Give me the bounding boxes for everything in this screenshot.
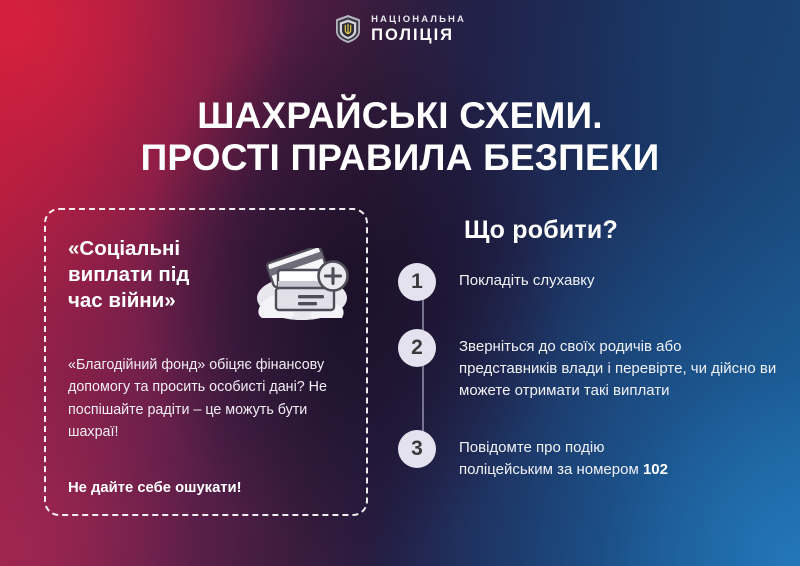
- step-text: Покладіть слухавку: [459, 263, 595, 292]
- actions-section: Що робити? 1 Покладіть слухавку 2 Зверні…: [398, 216, 778, 480]
- page-title-line-2: ПРОСТІ ПРАВИЛА БЕЗПЕКИ: [0, 137, 800, 179]
- brand-logo: НАЦІОНАЛЬНА ПОЛІЦІЯ: [0, 14, 800, 44]
- scheme-card-header: «Соціальні виплати під час війни»: [46, 210, 366, 322]
- emergency-number: 102: [643, 461, 668, 478]
- scheme-card-title: «Соціальні виплати під час війни»: [68, 236, 250, 313]
- infographic-poster: НАЦІОНАЛЬНА ПОЛІЦІЯ ШАХРАЙСЬКІ СХЕМИ. ПР…: [0, 0, 800, 566]
- list-item: 1 Покладіть слухавку: [398, 263, 778, 301]
- step-number-badge: 1: [398, 263, 436, 301]
- step-text: Зверніться до своїх родичів або представ…: [459, 329, 778, 402]
- step-number-badge: 2: [398, 329, 436, 367]
- brand-wordmark: НАЦІОНАЛЬНА ПОЛІЦІЯ: [371, 15, 466, 43]
- actions-heading: Що робити?: [464, 216, 778, 245]
- list-item: 3 Повідомте про подію поліцейським за но…: [398, 430, 778, 481]
- brand-line-2: ПОЛІЦІЯ: [371, 27, 454, 44]
- brand-line-1: НАЦІОНАЛЬНА: [371, 15, 466, 25]
- page-title-line-1: ШАХРАЙСЬКІ СХЕМИ.: [0, 95, 800, 137]
- list-item: 2 Зверніться до своїх родичів або предст…: [398, 329, 778, 402]
- payment-cards-plus-icon: [254, 248, 350, 322]
- step-number-badge: 3: [398, 430, 436, 468]
- scheme-card-warning: Не дайте себе ошукати!: [46, 458, 366, 496]
- police-badge-icon: [334, 14, 362, 44]
- page-title: ШАХРАЙСЬКІ СХЕМИ. ПРОСТІ ПРАВИЛА БЕЗПЕКИ: [0, 95, 800, 179]
- scheme-card-body: «Благодійний фонд» обіцяє фінансову допо…: [46, 336, 366, 443]
- step-text: Повідомте про подію поліцейським за номе…: [459, 430, 668, 481]
- step-text-lead: Повідомте про подію поліцейським за номе…: [459, 439, 643, 478]
- steps-list: 1 Покладіть слухавку 2 Зверніться до сво…: [398, 263, 778, 480]
- scheme-card: «Соціальні виплати під час війни» «Благо…: [44, 208, 368, 516]
